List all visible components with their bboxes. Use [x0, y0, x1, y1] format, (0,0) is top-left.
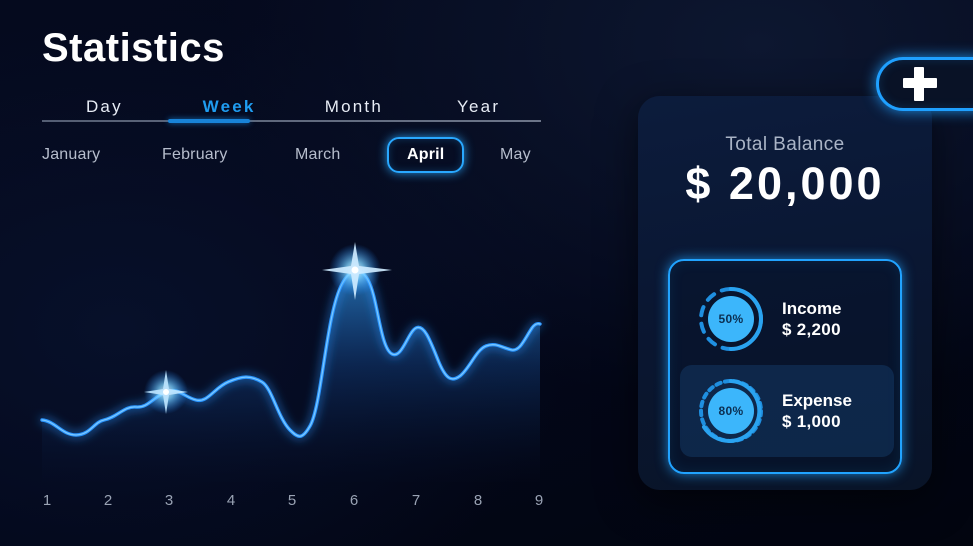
balance-area-chart[interactable] — [0, 192, 580, 492]
expense-row[interactable]: 80% Expense $ 1,000 — [680, 365, 894, 457]
chart-svg — [0, 192, 580, 492]
x-tick-4: 4 — [227, 492, 235, 509]
month-march[interactable]: March — [295, 146, 340, 164]
total-balance-amount: $ 20,000 — [638, 158, 932, 210]
income-row[interactable]: 50% Income $ 2,200 — [680, 273, 894, 365]
expense-progress-ring: 80% — [694, 374, 768, 448]
x-tick-2: 2 — [104, 492, 112, 509]
expense-label: Expense — [782, 390, 852, 411]
x-tick-5: 5 — [288, 492, 296, 509]
total-balance-label: Total Balance — [638, 134, 932, 156]
balance-panel: Total Balance $ 20,000 50% Income $ 2,20… — [638, 96, 932, 490]
income-percent: 50% — [694, 282, 768, 356]
x-tick-7: 7 — [412, 492, 420, 509]
chart-glow-marker-2 — [322, 242, 392, 300]
statistics-screen: Statistics Day Week Month Year January F… — [0, 0, 973, 546]
tab-active-indicator — [168, 119, 250, 123]
plus-icon — [901, 65, 939, 103]
page-title: Statistics — [42, 26, 225, 71]
income-progress-ring: 50% — [694, 282, 768, 356]
expense-percent: 80% — [694, 374, 768, 448]
month-may[interactable]: May — [500, 146, 531, 164]
income-label: Income — [782, 298, 842, 319]
month-selector: January February March April May — [42, 138, 562, 174]
month-january[interactable]: January — [42, 146, 100, 164]
month-april[interactable]: April — [387, 137, 464, 173]
x-tick-3: 3 — [165, 492, 173, 509]
flow-card: 50% Income $ 2,200 80% — [668, 259, 902, 474]
x-tick-1: 1 — [43, 492, 51, 509]
tab-year[interactable]: Year — [416, 90, 541, 124]
x-tick-8: 8 — [474, 492, 482, 509]
tab-underline — [42, 120, 541, 122]
tab-month[interactable]: Month — [292, 90, 417, 124]
x-tick-6: 6 — [350, 492, 358, 509]
chart-glow-marker-1 — [144, 370, 188, 414]
chart-x-axis: 1 2 3 4 5 6 7 8 9 — [0, 492, 580, 522]
chart-area-fill — [42, 271, 540, 482]
tab-day[interactable]: Day — [42, 90, 167, 124]
add-button[interactable] — [876, 57, 973, 111]
month-february[interactable]: February — [162, 146, 228, 164]
x-tick-9: 9 — [535, 492, 543, 509]
income-value: $ 2,200 — [782, 319, 842, 341]
expense-value: $ 1,000 — [782, 411, 852, 433]
range-tab-bar: Day Week Month Year — [42, 90, 541, 124]
